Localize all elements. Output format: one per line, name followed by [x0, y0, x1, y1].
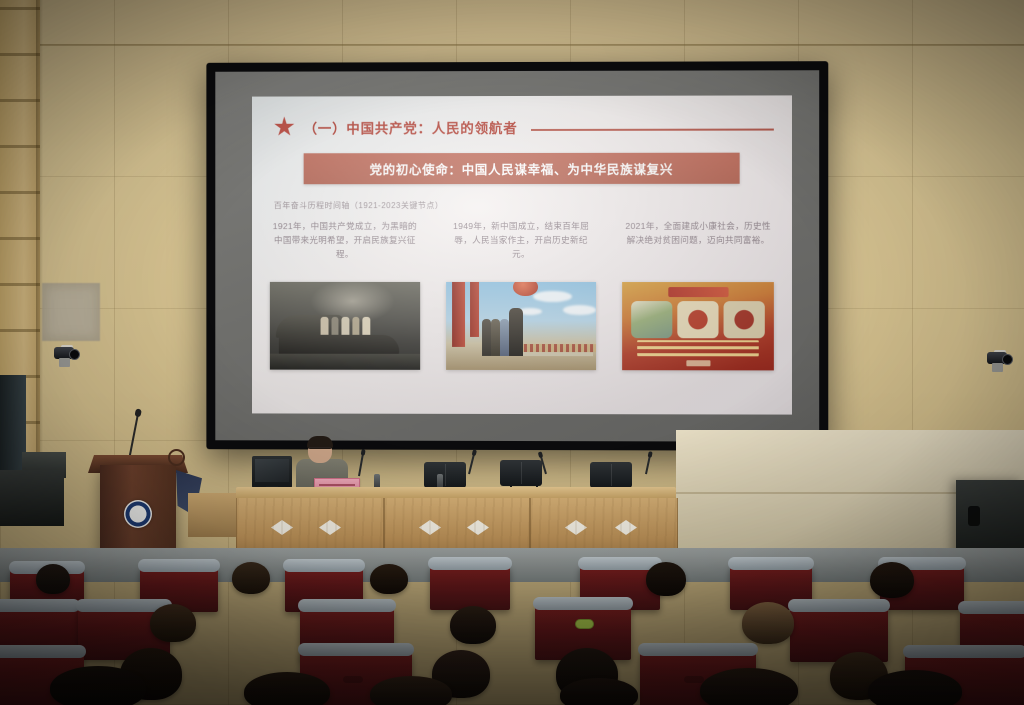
- wall-vignette: [0, 0, 1024, 705]
- lecture-hall-photo: （一）中国共产党：人民的领航者 党的初心使命：中国人民谋幸福、为中华民族谋复兴 …: [0, 0, 1024, 705]
